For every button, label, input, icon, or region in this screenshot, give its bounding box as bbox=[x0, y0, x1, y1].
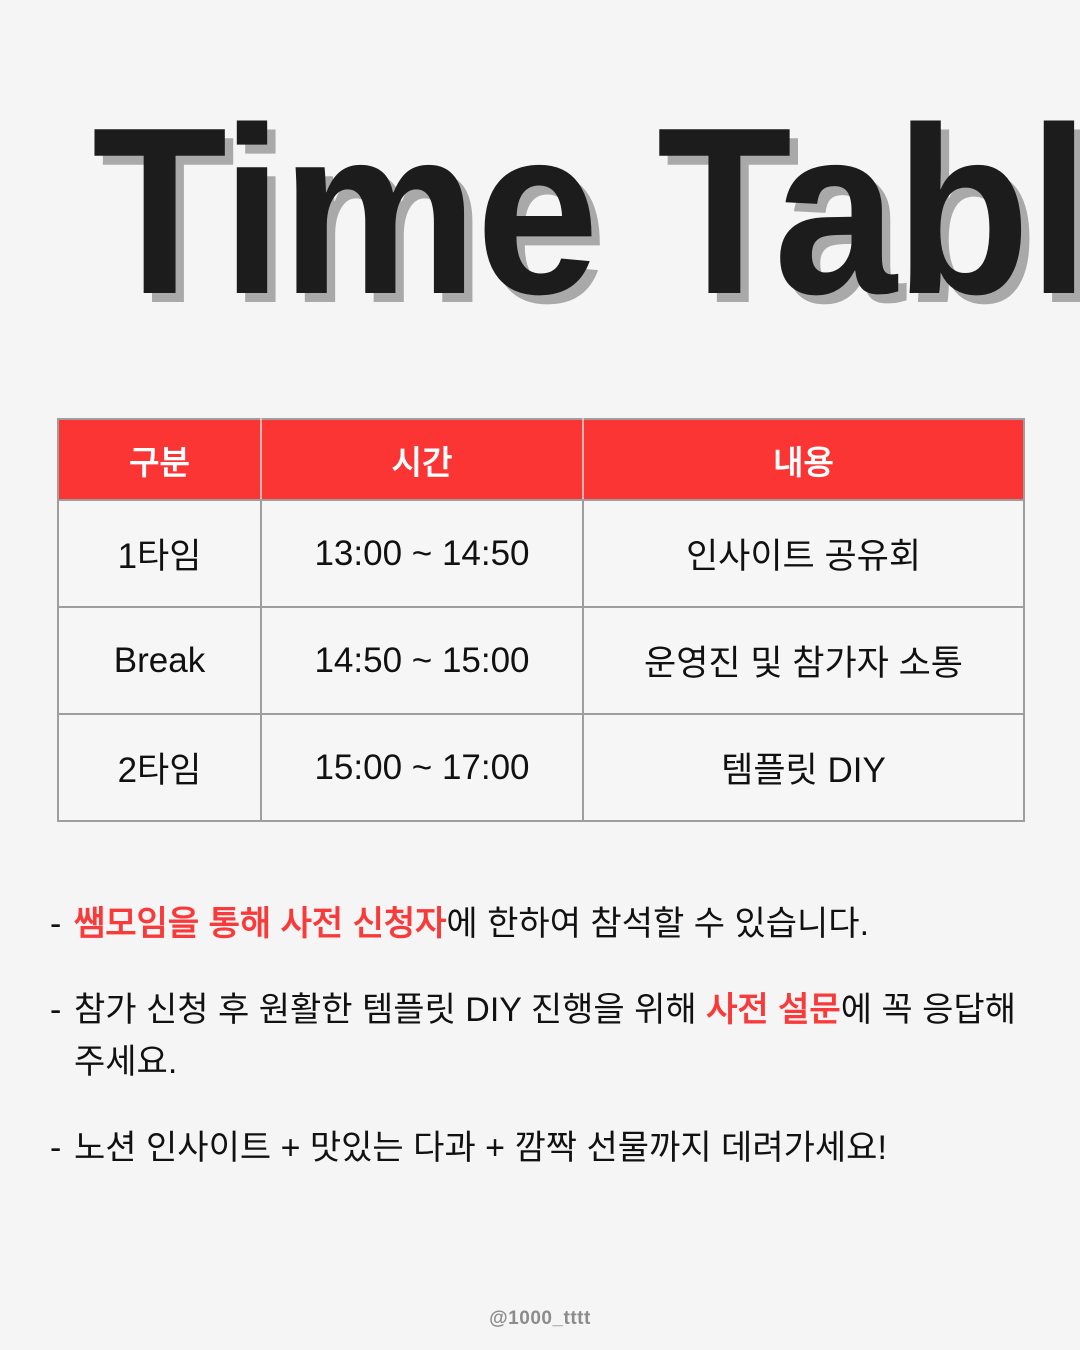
table-row: 2타임 15:00 ~ 17:00 템플릿 DIY bbox=[58, 714, 1024, 821]
cell-time: 14:50 ~ 15:00 bbox=[261, 607, 583, 714]
note-plain: 참가 신청 후 원활한 템플릿 DIY 진행을 위해 bbox=[74, 991, 706, 1029]
table-row: 1타임 13:00 ~ 14:50 인사이트 공유회 bbox=[58, 500, 1024, 607]
note-item: - 노션 인사이트 + 맛있는 다과 + 깜짝 선물까지 데려가세요! bbox=[50, 1122, 1040, 1174]
footer-handle: @1000_tttt bbox=[0, 1308, 1080, 1330]
cell-time: 15:00 ~ 17:00 bbox=[261, 714, 583, 821]
note-item: - 참가 신청 후 원활한 템플릿 DIY 진행을 위해 사전 설문에 꼭 응답… bbox=[50, 984, 1040, 1088]
title-block: Time Table bbox=[0, 96, 1080, 356]
timetable: 구분 시간 내용 1타임 13:00 ~ 14:50 인사이트 공유회 Brea… bbox=[57, 418, 1025, 822]
bullet-dash: - bbox=[50, 1122, 74, 1174]
cell-desc: 템플릿 DIY bbox=[583, 714, 1024, 821]
bullet-dash: - bbox=[50, 984, 74, 1036]
cell-desc: 운영진 및 참가자 소통 bbox=[583, 607, 1024, 714]
table-header-row: 구분 시간 내용 bbox=[58, 419, 1024, 500]
bullet-dash: - bbox=[50, 898, 74, 950]
cell-type: Break bbox=[58, 607, 261, 714]
cell-desc: 인사이트 공유회 bbox=[583, 500, 1024, 607]
column-header-desc: 내용 bbox=[583, 419, 1024, 500]
notes-list: - 쌤모임을 통해 사전 신청자에 한하여 참석할 수 있습니다. - 참가 신… bbox=[50, 898, 1040, 1208]
cell-type: 1타임 bbox=[58, 500, 261, 607]
note-plain: 노션 인사이트 + 맛있는 다과 + 깜짝 선물까지 데려가세요! bbox=[74, 1129, 887, 1167]
column-header-time: 시간 bbox=[261, 419, 583, 500]
note-highlight: 사전 설문 bbox=[706, 991, 841, 1029]
column-header-type: 구분 bbox=[58, 419, 261, 500]
note-text: 노션 인사이트 + 맛있는 다과 + 깜짝 선물까지 데려가세요! bbox=[74, 1122, 1040, 1174]
cell-time: 13:00 ~ 14:50 bbox=[261, 500, 583, 607]
note-highlight: 쌤모임을 통해 사전 신청자 bbox=[74, 905, 446, 943]
cell-type: 2타임 bbox=[58, 714, 261, 821]
page-title: Time Table bbox=[92, 96, 1080, 328]
table-row: Break 14:50 ~ 15:00 운영진 및 참가자 소통 bbox=[58, 607, 1024, 714]
note-plain: 에 한하여 참석할 수 있습니다. bbox=[446, 905, 869, 943]
note-text: 참가 신청 후 원활한 템플릿 DIY 진행을 위해 사전 설문에 꼭 응답해주… bbox=[74, 984, 1040, 1088]
note-text: 쌤모임을 통해 사전 신청자에 한하여 참석할 수 있습니다. bbox=[74, 898, 1040, 950]
note-item: - 쌤모임을 통해 사전 신청자에 한하여 참석할 수 있습니다. bbox=[50, 898, 1040, 950]
